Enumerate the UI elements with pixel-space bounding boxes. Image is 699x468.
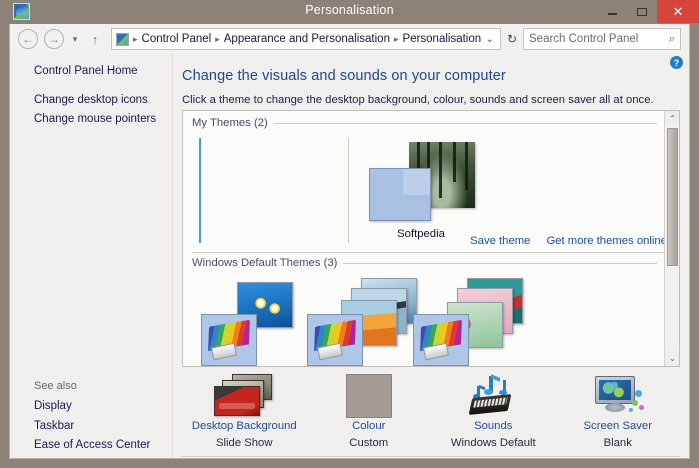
vertical-scrollbar[interactable]: ⌃ ⌄ (664, 111, 679, 366)
scroll-up-icon[interactable]: ⌃ (665, 111, 680, 126)
search-input[interactable]: Search Control Panel ⌕ (523, 28, 681, 50)
see-also-label: See also (34, 380, 77, 392)
theme-thumbnail-stack (411, 278, 531, 367)
sidebar-item-change-desktop-icons[interactable]: Change desktop icons (34, 94, 148, 106)
tool-label[interactable]: Screen Saver (556, 420, 681, 432)
get-more-themes-link[interactable]: Get more themes online (546, 235, 667, 247)
tool-label[interactable]: Desktop Background (182, 420, 307, 432)
selection-indicator (199, 138, 201, 243)
refresh-icon[interactable]: ↻ (501, 32, 523, 46)
theme-actions: Save theme Get more themes online (470, 235, 667, 247)
scroll-down-icon[interactable]: ⌄ (665, 351, 680, 366)
screen-saver-icon (591, 374, 645, 418)
breadcrumb[interactable]: ▸ Control Panel ▸ Appearance and Persona… (111, 28, 501, 50)
tool-value: Custom (307, 437, 432, 449)
sidebar-item-taskbar[interactable]: Taskbar (34, 420, 74, 432)
colour-swatch-icon (346, 374, 392, 418)
breadcrumb-separator: ▸ (132, 34, 139, 45)
tool-desktop-background[interactable]: Desktop Background Slide Show (182, 372, 307, 457)
group-divider (348, 138, 349, 243)
personalisation-settings-bar: Desktop Background Slide Show Colour Cus… (182, 372, 680, 457)
maximize-button[interactable] (627, 0, 657, 23)
theme-thumbnail-stack (305, 278, 425, 367)
group-rule (343, 263, 657, 264)
group-header-my-themes: My Themes (2) (192, 117, 657, 129)
colour-fan-icon (201, 314, 257, 366)
address-bar: ← → ▾ ↑ ▸ Control Panel ▸ Appearance and… (9, 24, 690, 54)
footer-rule (182, 456, 680, 457)
desktop-background-icon (214, 374, 274, 416)
minimize-icon (608, 13, 617, 15)
breadcrumb-item-control-panel[interactable]: Control Panel (142, 33, 212, 45)
sidebar-item-change-mouse-pointers[interactable]: Change mouse pointers (34, 113, 156, 125)
colour-fan-icon (413, 314, 469, 366)
theme-thumbnail-stack (199, 278, 319, 367)
maximize-icon (637, 8, 647, 16)
group-rule (274, 123, 657, 124)
sidebar-item-display[interactable]: Display (34, 400, 72, 412)
sounds-icon (467, 374, 519, 418)
page-title: Change the visuals and sounds on your co… (182, 68, 506, 84)
search-icon: ⌕ (669, 33, 675, 46)
title-bar[interactable]: Personalisation ✕ (0, 0, 699, 23)
sidebar-item-control-panel-home[interactable]: Control Panel Home (34, 65, 138, 77)
breadcrumb-item-personalisation[interactable]: Personalisation (403, 33, 482, 45)
themes-scroll-area: My Themes (2) Softpedia (183, 111, 679, 366)
group-label: Windows Default Themes (3) (192, 257, 337, 269)
breadcrumb-separator: ▸ (393, 34, 400, 45)
tool-colour[interactable]: Colour Custom (307, 372, 432, 457)
up-button[interactable]: ↑ (87, 32, 103, 47)
actions-rule (192, 252, 670, 253)
window-content: Control Panel Home Change desktop icons … (9, 54, 690, 459)
tool-label[interactable]: Colour (307, 420, 432, 432)
main-panel: ? Change the visuals and sounds on your … (173, 54, 689, 458)
themes-list[interactable]: My Themes (2) Softpedia (182, 110, 680, 367)
forward-button[interactable]: → (44, 29, 64, 49)
breadcrumb-separator: ▸ (214, 34, 221, 45)
minimize-button[interactable] (597, 0, 627, 23)
tool-value: Windows Default (431, 437, 556, 449)
page-subtitle: Click a theme to change the desktop back… (182, 94, 654, 106)
sidebar: Control Panel Home Change desktop icons … (10, 54, 173, 458)
tool-sounds[interactable]: Sounds Windows Default (431, 372, 556, 457)
breadcrumb-icon (116, 33, 129, 46)
chevron-down-icon[interactable]: ⌄ (486, 34, 496, 45)
group-header-windows-default-themes: Windows Default Themes (3) (192, 257, 657, 269)
help-icon[interactable]: ? (670, 56, 683, 69)
tool-label[interactable]: Sounds (431, 420, 556, 432)
group-label: My Themes (2) (192, 117, 268, 129)
tool-value: Blank (556, 437, 681, 449)
close-button[interactable]: ✕ (657, 0, 699, 23)
scrollbar-thumb[interactable] (667, 128, 678, 266)
search-placeholder: Search Control Panel (529, 33, 669, 45)
save-theme-link[interactable]: Save theme (470, 235, 530, 247)
breadcrumb-item-appearance[interactable]: Appearance and Personalisation (224, 33, 390, 45)
tool-screen-saver[interactable]: Screen Saver Blank (556, 372, 681, 457)
back-button[interactable]: ← (18, 29, 38, 49)
theme-thumbnail-colour (369, 168, 431, 221)
window-title: Personalisation (0, 3, 699, 17)
recent-locations-button[interactable]: ▾ (69, 34, 81, 45)
theme-name: Softpedia (361, 228, 481, 240)
sidebar-item-ease-of-access[interactable]: Ease of Access Center (34, 439, 150, 451)
colour-fan-icon (307, 314, 363, 366)
tool-value: Slide Show (182, 437, 307, 449)
